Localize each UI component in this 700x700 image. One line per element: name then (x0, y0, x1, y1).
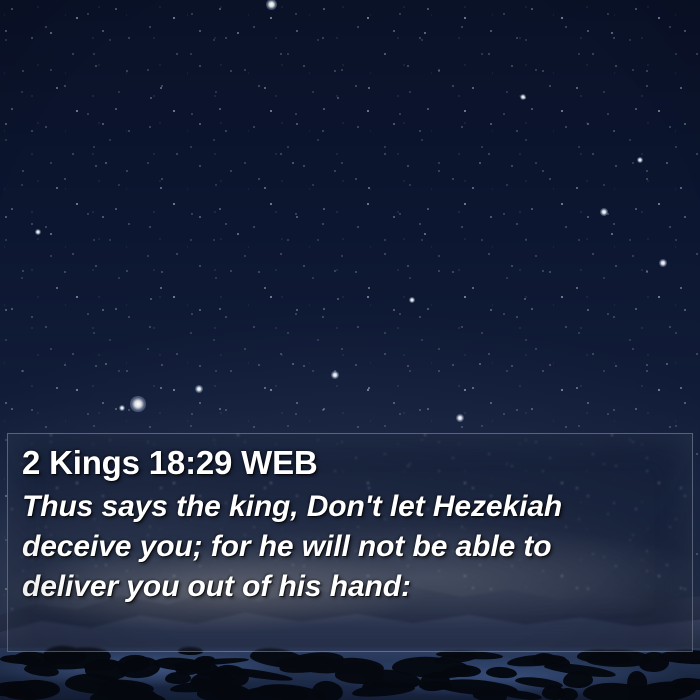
verse-image-canvas: 2 Kings 18:29 WEB Thus says the king, Do… (0, 0, 700, 700)
verse-text-line: Thus says the king, Don't let Hezekiah (22, 487, 678, 527)
verse-overlay-card: 2 Kings 18:29 WEB Thus says the king, Do… (7, 433, 693, 652)
verse-reference-heading: 2 Kings 18:29 WEB (22, 442, 678, 484)
verse-text-block: Thus says the king, Don't let Hezekiah d… (22, 487, 678, 607)
snow-field (0, 648, 700, 700)
verse-card-content: 2 Kings 18:29 WEB Thus says the king, Do… (8, 434, 692, 607)
verse-text-line: deliver you out of his hand: (22, 567, 678, 607)
verse-text-line: deceive you; for he will not be able to (22, 527, 678, 567)
